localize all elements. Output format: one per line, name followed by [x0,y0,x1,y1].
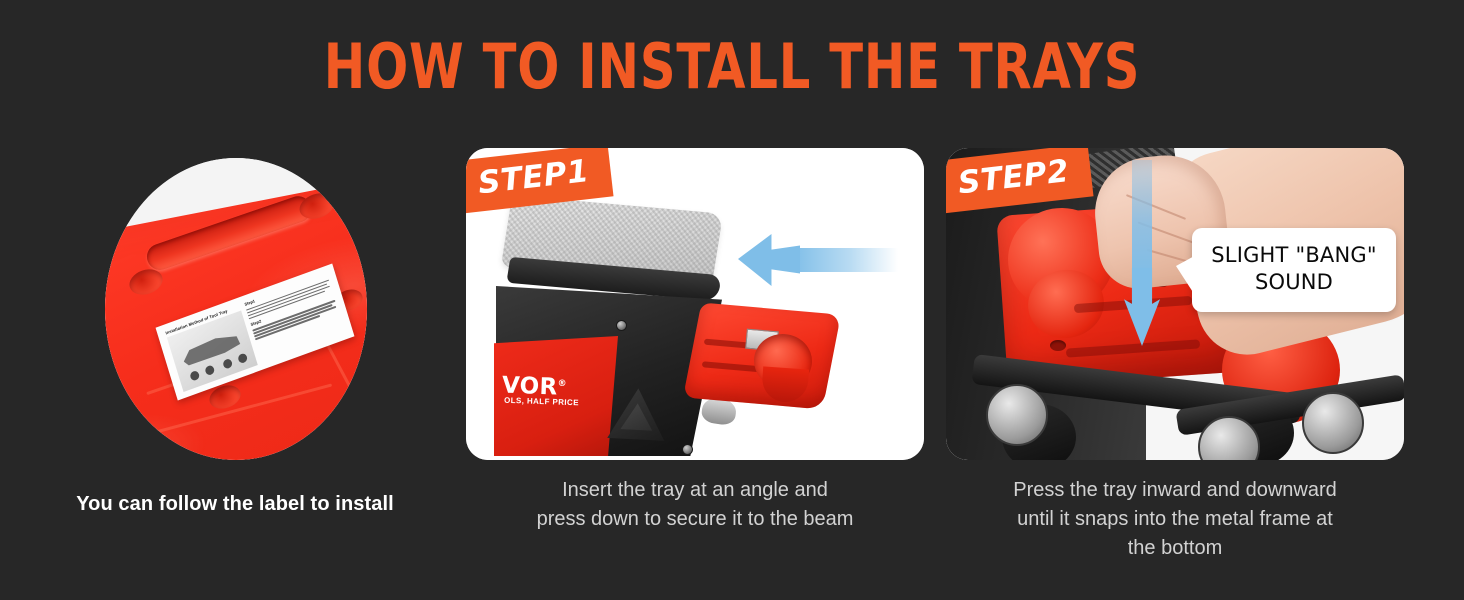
registered-mark-icon: ® [557,379,567,389]
step2-photo-card: SLIGHT "BANG" SOUND STEP2 [946,148,1404,460]
screw-icon [682,444,693,455]
tray-mount-hole [1050,340,1066,351]
callout-line: SLIGHT "BANG" [1204,242,1384,269]
bubble-tail-icon [1176,254,1198,300]
caption-line: the bottom [946,534,1404,563]
caster-wheel [986,384,1048,446]
arrow-shaft [1132,160,1152,278]
page-title: HOW TO INSTALL THE TRAYS [146,34,1317,100]
panel-label-caption: You can follow the label to install [20,491,450,517]
sound-callout-bubble: SLIGHT "BANG" SOUND [1192,228,1396,312]
press-direction-arrow [1124,160,1160,346]
cart-wheel [222,358,233,370]
panel-step2: SLIGHT "BANG" SOUND STEP2 Press the tray… [946,148,1404,568]
panel-step2-caption: Press the tray inward and downward until… [946,476,1404,563]
cart-wheel [204,365,215,377]
arrow-down-icon [1124,268,1160,346]
caster-wheel [1302,392,1364,454]
caption-line: until it snaps into the metal frame at [946,505,1404,534]
step1-photo-card: VOR® OLS, HALF PRICE STEP1 [466,148,924,460]
caption-line: Insert the tray at an angle and [466,476,924,505]
infographic-page: HOW TO INSTALL THE TRAYS Installation Me… [0,0,1464,600]
tray-scene: Installation Method of Tool Tray Step1 [105,158,367,460]
arrow-left-icon [738,234,800,286]
screw-icon [616,320,627,331]
panel-step1-caption: Insert the tray at an angle and press do… [466,476,924,534]
panel-step1: VOR® OLS, HALF PRICE STEP1 [466,148,924,568]
cart-wheel [237,353,248,365]
caption-line: press down to secure it to the beam [466,505,924,534]
circular-tray-photo: Installation Method of Tool Tray Step1 [105,158,367,460]
cart-wheel [189,370,200,382]
panel-label: Installation Method of Tool Tray Step1 [20,148,450,568]
callout-line: SOUND [1204,269,1384,296]
arrow-tail [792,248,898,272]
insert-direction-arrow [738,234,898,286]
caption-line: Press the tray inward and downward [946,476,1404,505]
